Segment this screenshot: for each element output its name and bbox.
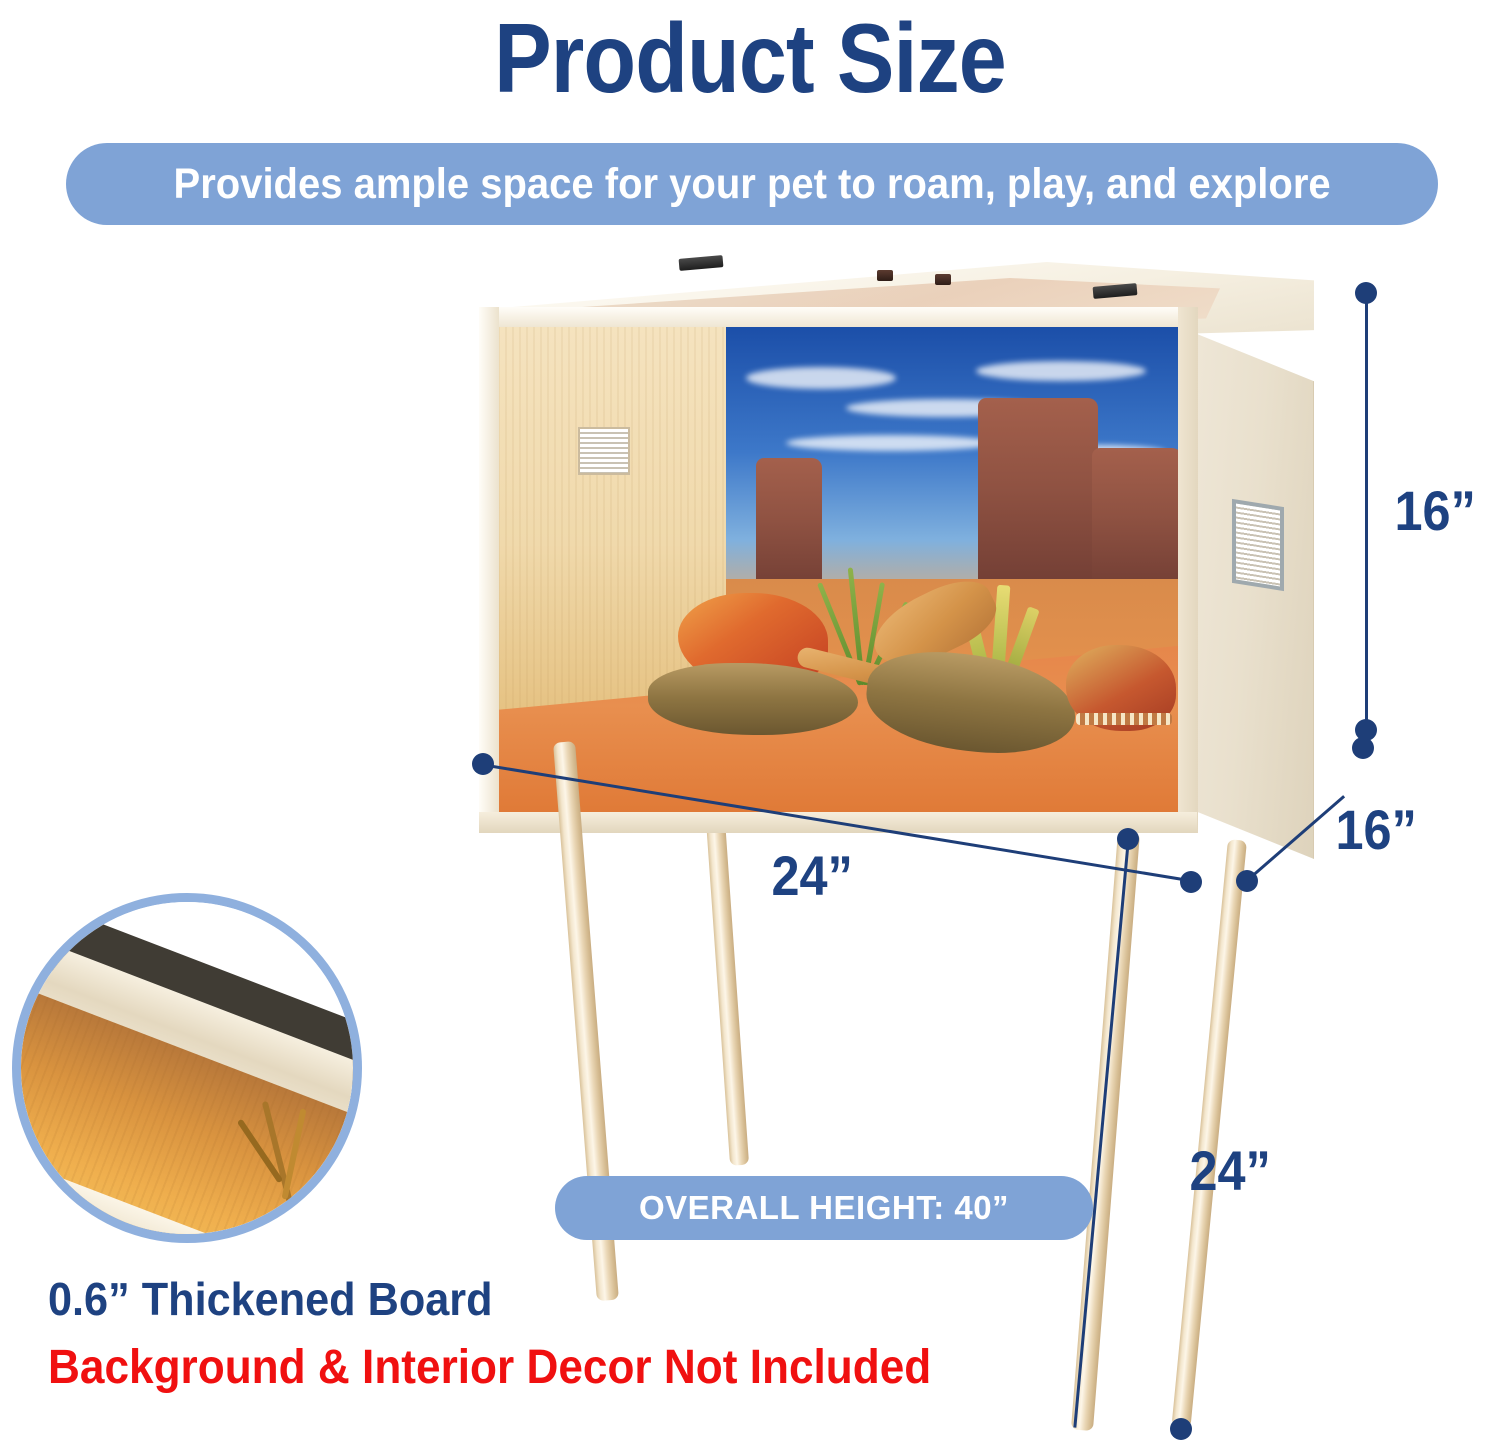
inset-fern-icon	[241, 1092, 337, 1210]
mesa-left	[756, 458, 822, 598]
board-thickness-caption: 0.6” Thickened Board	[48, 1272, 493, 1326]
dimension-label-depth: 16”	[1336, 797, 1417, 862]
leg-rear-right	[1171, 839, 1246, 1428]
dimdot-height-top	[1355, 282, 1377, 304]
dimension-label-width: 24”	[772, 843, 853, 908]
inset-photo	[21, 902, 353, 1234]
dimdot-depth-top	[1352, 737, 1374, 759]
decor-skull-teeth	[1076, 713, 1172, 725]
mesa-right	[978, 398, 1098, 598]
overall-height-pill: OVERALL HEIGHT: 40”	[555, 1176, 1093, 1240]
latch-center-a-icon	[877, 270, 893, 281]
ventilation-grille-left-icon	[578, 427, 630, 475]
latch-center-b-icon	[935, 274, 951, 285]
hinge-left-icon	[679, 255, 724, 271]
dimline-height	[1365, 293, 1368, 730]
dimdot-legs-bottom	[1170, 1418, 1192, 1440]
dimdot-depth-bottom	[1236, 870, 1258, 892]
leg-rear-left	[705, 805, 749, 1165]
mesa-far-right	[1092, 448, 1181, 598]
cabinet-right-side-panel	[1197, 334, 1314, 859]
terrarium-interior	[498, 325, 1181, 813]
ventilation-grille-right-icon	[1232, 499, 1284, 591]
disclaimer-text: Background & Interior Decor Not Included	[48, 1340, 931, 1395]
dimension-label-height: 16”	[1395, 478, 1476, 543]
overall-height-label: OVERALL HEIGHT: 40”	[639, 1189, 1009, 1227]
product-size-infographic: Product Size Provides ample space for yo…	[0, 0, 1500, 1447]
dimension-label-legs: 24”	[1190, 1138, 1271, 1203]
dimdot-width-right	[1180, 871, 1202, 893]
front-frame-top	[479, 307, 1197, 327]
dimdot-legs-top	[1117, 828, 1139, 850]
board-thickness-detail-inset	[12, 893, 362, 1243]
front-frame-right	[1178, 307, 1198, 833]
dimdot-width-left	[472, 753, 494, 775]
